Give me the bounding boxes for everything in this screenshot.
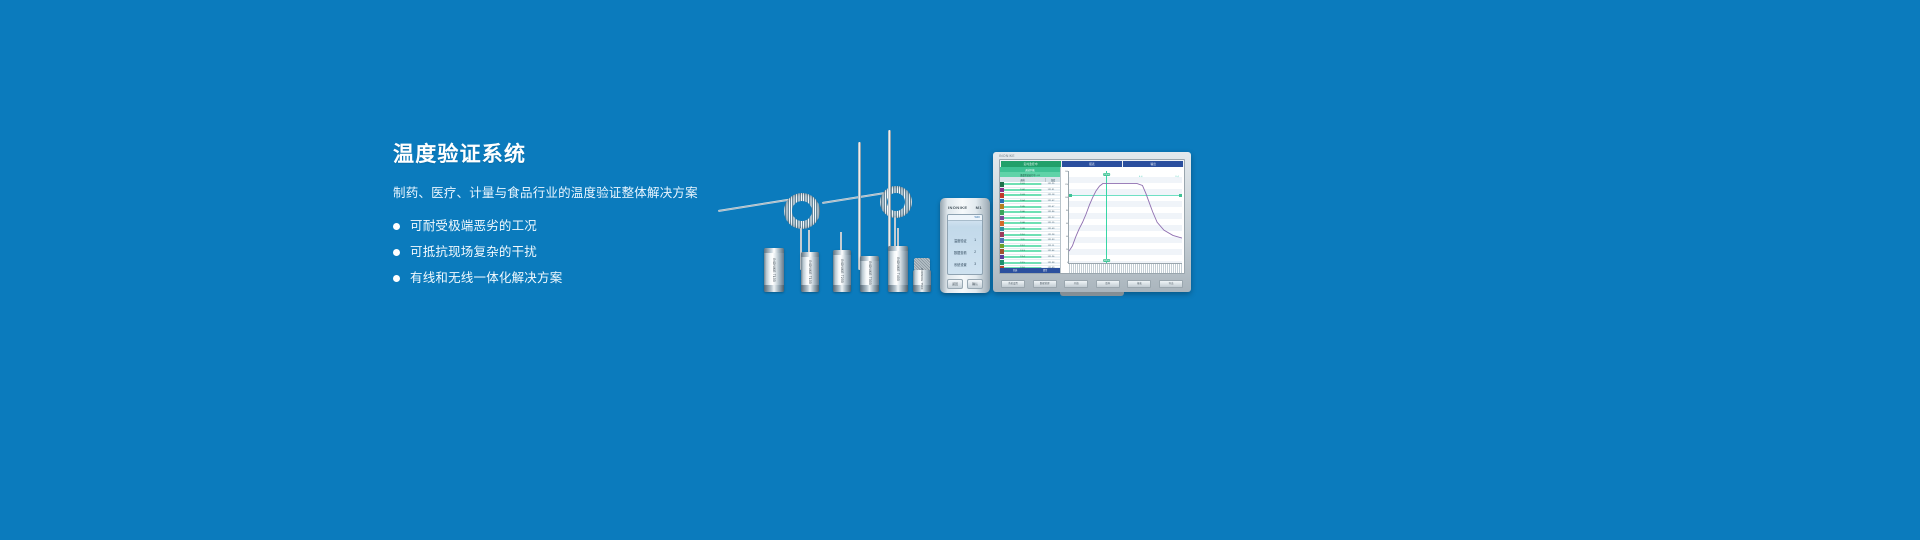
feature-text: 可抵抗现场复杂的干扰 bbox=[410, 244, 537, 260]
channel-name: T-01 bbox=[1004, 183, 1041, 185]
logger-label: INONIKE T200 bbox=[840, 259, 844, 283]
channel-value: 121.36 bbox=[1041, 211, 1060, 213]
clear-button[interactable]: 清空 bbox=[1030, 268, 1060, 272]
tab-live-monitoring[interactable]: 实时监控中 bbox=[1001, 161, 1061, 167]
channel-value: 121.31 bbox=[1041, 189, 1060, 191]
menu-index: 2 bbox=[974, 250, 976, 254]
channel-value: 121.25 bbox=[1041, 183, 1060, 185]
channel-value: 121.28 bbox=[1041, 234, 1060, 236]
brand-name: INONIKE bbox=[948, 205, 967, 210]
logger-label: INONIKE T500 bbox=[920, 268, 924, 289]
logger-stem bbox=[840, 232, 842, 250]
monitor-button-row: 系统设置 数据管理 开始 暂停 报表 导出 bbox=[1001, 279, 1183, 289]
channel-value: 121.11 bbox=[1041, 245, 1060, 247]
menu-label: 温度验证 bbox=[954, 238, 967, 243]
menu-label: 系统设置 bbox=[954, 262, 967, 267]
app-toolbar: 实时监控中 报表 输出 bbox=[1000, 160, 1184, 167]
coil-probe-wire bbox=[822, 192, 886, 204]
needle-probe bbox=[858, 142, 861, 270]
validation-monitor: INONIKE 实时监控中 报表 输出 通道列表 温度验证运行中 - 01 通道… bbox=[993, 152, 1191, 292]
handheld-keypad: 返回 确认 bbox=[947, 278, 983, 289]
pause-button[interactable]: 暂停 bbox=[1096, 280, 1120, 288]
bullet-dot-icon bbox=[393, 223, 400, 230]
logger-base bbox=[801, 285, 819, 292]
channel-name: T-14 bbox=[1004, 256, 1041, 258]
channel-name: T-08 bbox=[1004, 222, 1041, 224]
tab-export[interactable]: 输出 bbox=[1123, 161, 1183, 167]
coil-probe-wire bbox=[718, 199, 789, 212]
data-logger: INONIKE T500 bbox=[913, 270, 931, 292]
logger-cap bbox=[764, 248, 784, 253]
table-body[interactable]: T-01121.25T-02121.31T-03121.18T-04121.42… bbox=[1000, 182, 1060, 268]
channel-name: T-07 bbox=[1004, 217, 1041, 219]
channel-value: 121.33 bbox=[1041, 239, 1060, 241]
channel-name: T-04 bbox=[1004, 200, 1041, 202]
start-button[interactable]: 开始 bbox=[1064, 280, 1088, 288]
coil-probe-ring bbox=[784, 193, 820, 229]
tab-report[interactable]: 报表 bbox=[1062, 161, 1122, 167]
channel-name: T-10 bbox=[1004, 234, 1041, 236]
logger-base bbox=[764, 285, 784, 292]
channel-value: 121.07 bbox=[1041, 206, 1060, 208]
wifi-status-label: WIFI bbox=[975, 216, 980, 219]
select-all-button[interactable]: 全选 bbox=[1000, 268, 1030, 272]
lcd-menu-item[interactable]: 数据查看 2 bbox=[954, 249, 976, 255]
logger-label: INONIKE T100 bbox=[808, 260, 812, 284]
channel-name: T-13 bbox=[1004, 250, 1041, 252]
logger-label: INONIKE T100 bbox=[772, 258, 776, 282]
monitor-brand: INONIKE bbox=[999, 154, 1015, 158]
lcd-menu-item[interactable]: 系统设置 3 bbox=[954, 261, 976, 267]
back-button[interactable]: 返回 bbox=[947, 279, 963, 289]
export-button[interactable]: 导出 bbox=[1159, 280, 1183, 288]
table-footer: 全选 清空 bbox=[1000, 268, 1060, 274]
logger-label: INONIKE T300 bbox=[868, 261, 872, 285]
handheld-lcd: WIFI 温度验证 1 数据查看 2 系统设置 3 bbox=[947, 214, 983, 275]
feature-text: 可耐受极端恶劣的工况 bbox=[410, 218, 537, 234]
monitor-screen: 实时监控中 报表 输出 通道列表 温度验证运行中 - 01 通道 温度 T-01… bbox=[999, 159, 1185, 274]
logger-stem bbox=[808, 230, 810, 252]
channel-name: T-11 bbox=[1004, 239, 1041, 241]
lcd-menu-item[interactable]: 温度验证 1 bbox=[954, 237, 976, 243]
logger-cap bbox=[801, 252, 819, 257]
data-logger: INONIKE T100 bbox=[801, 252, 819, 292]
handheld-brand: INONIKE M1 bbox=[948, 205, 982, 210]
report-button[interactable]: 报表 bbox=[1127, 280, 1151, 288]
menu-index: 1 bbox=[974, 238, 976, 242]
system-settings-button[interactable]: 系统设置 bbox=[1001, 280, 1025, 288]
data-logger: INONIKE T100 bbox=[764, 248, 784, 292]
channel-value: 121.44 bbox=[1041, 250, 1060, 252]
channel-value: 121.18 bbox=[1041, 194, 1060, 196]
data-management-button[interactable]: 数据管理 bbox=[1033, 280, 1057, 288]
channel-value: 121.15 bbox=[1041, 222, 1060, 224]
channel-value: 121.26 bbox=[1041, 256, 1060, 258]
temperature-chart: 140120100806040200 开始点 结束点 A 点 B 点 bbox=[1061, 167, 1184, 273]
data-logger: INONIKE T200 bbox=[833, 250, 851, 292]
logger-cap bbox=[888, 246, 908, 251]
coil-probe-ring bbox=[880, 186, 912, 218]
bullet-dot-icon bbox=[393, 249, 400, 256]
lcd-statusbar: WIFI bbox=[948, 215, 982, 221]
channel-name: T-06 bbox=[1004, 211, 1041, 213]
logger-base bbox=[860, 285, 879, 292]
channel-name: T-15 bbox=[1004, 262, 1041, 264]
chart-x-axis bbox=[1068, 263, 1182, 273]
app-body: 通道列表 温度验证运行中 - 01 通道 温度 T-01121.25T-0212… bbox=[1000, 167, 1184, 273]
channel-value: 121.49 bbox=[1041, 228, 1060, 230]
feature-text: 有线和无线一体化解决方案 bbox=[410, 270, 562, 286]
channel-value: 121.22 bbox=[1041, 217, 1060, 219]
confirm-button[interactable]: 确认 bbox=[967, 279, 983, 289]
channel-name: T-02 bbox=[1004, 189, 1041, 191]
data-logger: INONIKE T400 bbox=[888, 246, 908, 292]
channel-value: 121.38 bbox=[1041, 262, 1060, 264]
handheld-reader[interactable]: INONIKE M1 WIFI 温度验证 1 数据查看 2 系统设置 3 bbox=[940, 198, 990, 293]
channel-name: T-09 bbox=[1004, 228, 1041, 230]
logger-base bbox=[888, 285, 908, 292]
channel-name: T-12 bbox=[1004, 245, 1041, 247]
logger-base bbox=[833, 285, 851, 292]
bullet-dot-icon bbox=[393, 275, 400, 282]
temperature-curve bbox=[1069, 171, 1182, 263]
chart-plot-area: 开始点 结束点 A 点 B 点 bbox=[1068, 171, 1182, 264]
channel-name: T-03 bbox=[1004, 194, 1041, 196]
data-logger: INONIKE T300 bbox=[860, 256, 879, 292]
channel-value: 121.42 bbox=[1041, 200, 1060, 202]
column-header-channel: 通道 bbox=[1000, 178, 1045, 182]
logger-stem bbox=[897, 228, 899, 246]
logger-label: INONIKE T400 bbox=[896, 257, 900, 281]
channel-name: T-05 bbox=[1004, 206, 1041, 208]
menu-index: 3 bbox=[974, 262, 976, 266]
column-header-temp: 温度 bbox=[1045, 178, 1060, 182]
menu-label: 数据查看 bbox=[954, 250, 967, 255]
channel-table: 通道列表 温度验证运行中 - 01 通道 温度 T-01121.25T-0212… bbox=[1000, 167, 1061, 273]
hero-banner: 温度验证系统 制药、医疗、计量与食品行业的温度验证整体解决方案 可耐受极端恶劣的… bbox=[0, 0, 1920, 540]
logger-cap bbox=[833, 250, 851, 255]
model-name: M1 bbox=[976, 205, 982, 210]
